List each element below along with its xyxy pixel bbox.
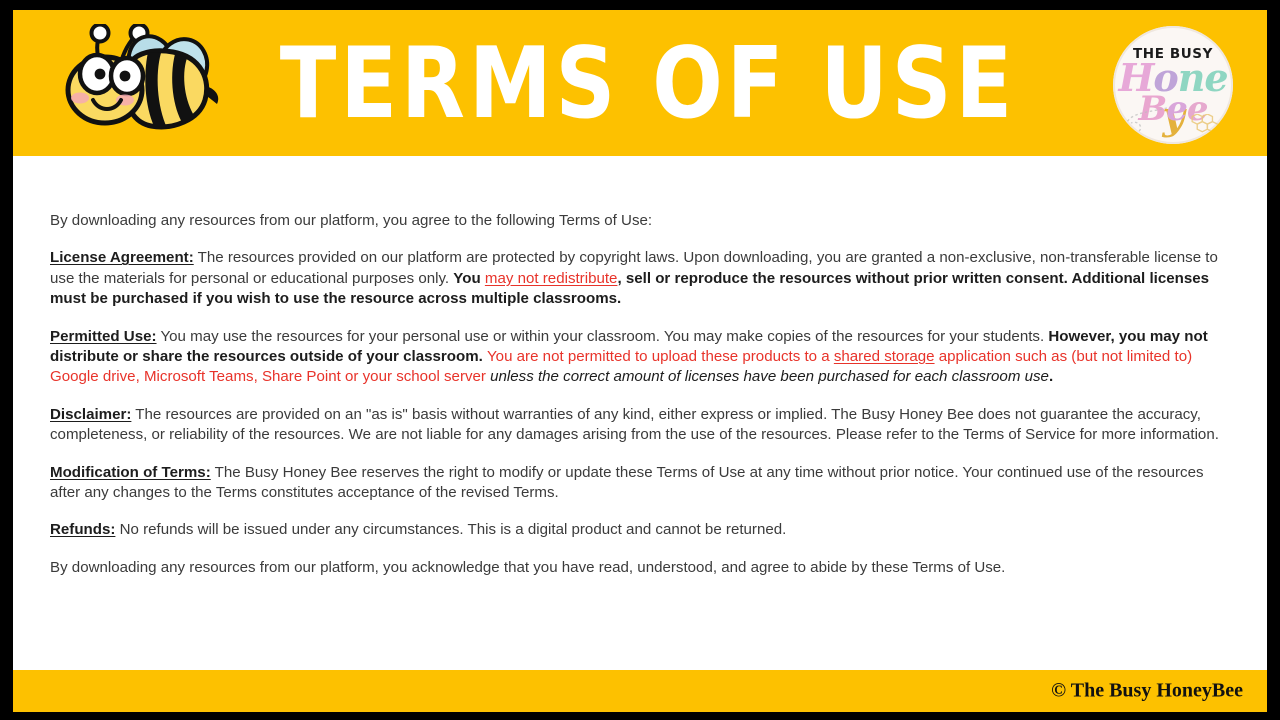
permitted-part-0: You may use the resources for your perso… — [157, 328, 1049, 345]
intro-paragraph: By downloading any resources from our pl… — [50, 211, 1228, 231]
permitted-part-5: unless the correct amount of licenses ha… — [486, 368, 1049, 385]
license-part-1: You — [453, 270, 485, 287]
brand-logo: THE BUSY Honey Bee — [1113, 26, 1233, 144]
honeycomb-icon — [1187, 114, 1221, 136]
section-permitted-use: Permitted Use: You may use the resources… — [50, 327, 1228, 388]
flight-path-icon — [1121, 106, 1169, 140]
modification-part-0: The Busy Honey Bee reserves the right to… — [50, 464, 1204, 501]
terms-text-block: By downloading any resources from our pl… — [50, 211, 1228, 578]
header-banner: TERMS OF USE THE BUSY Honey Bee — [13, 10, 1267, 156]
section-heading-refunds: Refunds: — [50, 521, 115, 538]
footer-banner: © The Busy HoneyBee — [13, 670, 1267, 712]
section-license-agreement: License Agreement: The resources provide… — [50, 248, 1228, 309]
permitted-part-2: You are not permitted to upload these pr… — [487, 348, 834, 365]
section-heading-license: License Agreement: — [50, 249, 194, 266]
section-modification-of-terms: Modification of Terms: The Busy Honey Be… — [50, 463, 1228, 504]
bee-icon — [55, 24, 235, 144]
section-heading-permitted: Permitted Use: — [50, 328, 157, 345]
terms-body-card: By downloading any resources from our pl… — [13, 156, 1267, 670]
page-title: TERMS OF USE — [280, 34, 1017, 132]
license-part-2: may not redistribute — [485, 270, 618, 287]
section-heading-disclaimer: Disclaimer: — [50, 406, 131, 423]
section-disclaimer: Disclaimer: The resources are provided o… — [50, 405, 1228, 446]
terms-of-use-page: TERMS OF USE THE BUSY Honey Bee By downl… — [0, 0, 1280, 720]
section-refunds: Refunds: No refunds will be issued under… — [50, 520, 1228, 540]
permitted-part-3: shared storage — [834, 348, 935, 365]
refunds-part-0: No refunds will be issued under any circ… — [115, 521, 786, 538]
closing-paragraph: By downloading any resources from our pl… — [50, 558, 1228, 578]
copyright-credit: © The Busy HoneyBee — [1051, 680, 1243, 703]
closing-text: By downloading any resources from our pl… — [50, 559, 1005, 576]
intro-text: By downloading any resources from our pl… — [50, 212, 652, 229]
disclaimer-part-0: The resources are provided on an "as is"… — [50, 406, 1219, 443]
permitted-part-6: . — [1049, 368, 1053, 385]
section-heading-modification: Modification of Terms: — [50, 464, 211, 481]
